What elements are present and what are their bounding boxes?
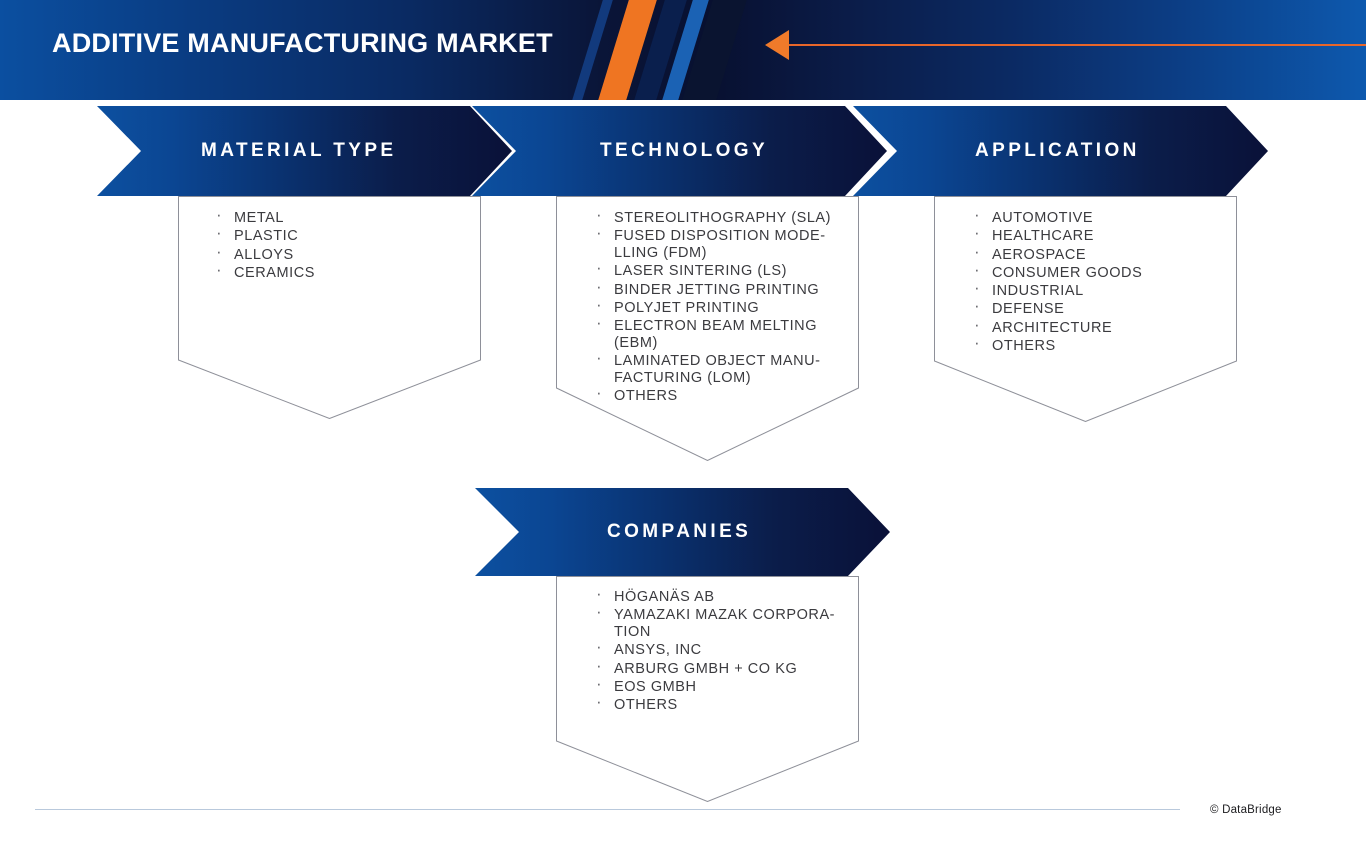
list-item: LASER SINTERING (LS) [592,263,832,280]
arrow-left-icon [765,30,789,60]
banner-companies[interactable]: COMPANIES [475,488,890,576]
footer-credit: © DataBridge [1210,804,1282,816]
list-item: ARCHITECTURE [970,320,1220,337]
list-item: EOS GMBH [592,679,837,696]
list-item: AEROSPACE [970,247,1220,264]
list-item: HÖGANÄS AB [592,589,837,606]
list-item: OTHERS [592,697,837,714]
list-item: LAMINATED OBJECT MANU-FACTURING (LOM) [592,353,832,387]
banner-technology[interactable]: TECHNOLOGY [472,106,887,196]
footer-divider [35,809,1180,810]
list-item: OTHERS [970,338,1220,355]
list-item: CONSUMER GOODS [970,265,1220,282]
arrow-line [789,44,1366,46]
list-item: FUSED DISPOSITION MODE-LLING (FDM) [592,228,832,262]
list-item: AUTOMOTIVE [970,210,1220,227]
list-item: ARBURG GMBH + CO KG [592,661,837,678]
list-item: OTHERS [592,388,832,405]
list-item: ALLOYS [212,247,462,264]
list-item: INDUSTRIAL [970,283,1220,300]
list-item: HEALTHCARE [970,228,1220,245]
banner-label-application: APPLICATION [975,140,1140,162]
list-item: CERAMICS [212,265,462,282]
list-item: POLYJET PRINTING [592,300,832,317]
list-item: STEREOLITHOGRAPHY (SLA) [592,210,832,227]
page-header: ADDITIVE MANUFACTURING MARKET [0,0,1366,100]
list-technology: STEREOLITHOGRAPHY (SLA) FUSED DISPOSITIO… [592,210,832,407]
list-companies: HÖGANÄS AB YAMAZAKI MAZAK CORPORA-TION A… [592,589,837,716]
list-item: ELECTRON BEAM MELTING (EBM) [592,318,832,352]
banner-label-technology: TECHNOLOGY [600,140,768,162]
list-item: YAMAZAKI MAZAK CORPORA-TION [592,607,837,641]
page-title: ADDITIVE MANUFACTURING MARKET [52,28,553,59]
list-item: ANSYS, INC [592,642,837,659]
banner-material-type[interactable]: MATERIAL TYPE [97,106,512,196]
list-item: METAL [212,210,462,227]
list-item: BINDER JETTING PRINTING [592,282,832,299]
list-item: PLASTIC [212,228,462,245]
banner-label-companies: COMPANIES [607,521,751,543]
list-material-type: METAL PLASTIC ALLOYS CERAMICS [212,210,462,283]
list-item: DEFENSE [970,301,1220,318]
banner-application[interactable]: APPLICATION [853,106,1268,196]
list-application: AUTOMOTIVE HEALTHCARE AEROSPACE CONSUMER… [970,210,1220,356]
banner-label-material-type: MATERIAL TYPE [201,140,397,162]
